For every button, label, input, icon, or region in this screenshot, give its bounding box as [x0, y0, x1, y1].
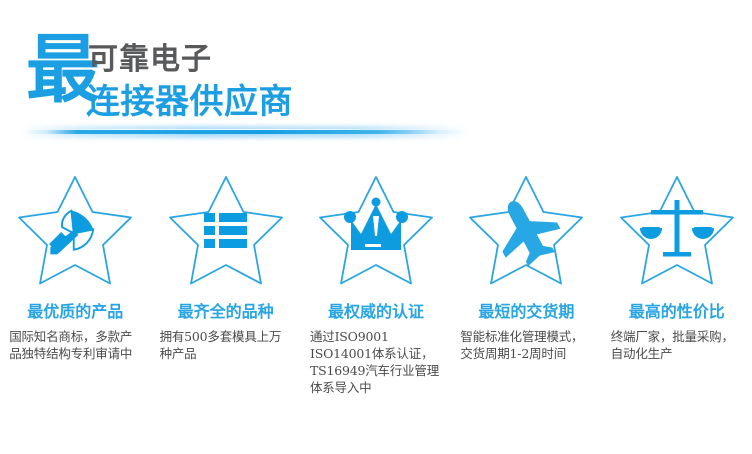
feature-item: 最优质的产品 国际知名商标，多款产品独特结构专利审请中 — [0, 168, 150, 408]
feature-description: 拥有500多套模具上万种产品 — [160, 328, 292, 362]
grid-list-icon — [204, 213, 247, 248]
header-divider — [0, 124, 752, 140]
headline-line-2: 连接器供应商 — [86, 84, 293, 120]
headline-line-1: 可靠电子 — [88, 44, 212, 76]
feature-list: 最优质的产品 国际知名商标，多款产品独特结构专利审请中 最齐全的品种 拥有500… — [0, 168, 752, 408]
divider-highlight-line — [40, 129, 450, 130]
feature-description: 通过ISO9001 ISO14001体系认证，TS16949汽车行业管理体系导入… — [310, 328, 442, 396]
feature-description: 国际知名商标，多款产品独特结构专利审请中 — [9, 328, 141, 362]
satellite-dish-icon — [49, 211, 93, 255]
feature-title: 最短的交货期 — [478, 302, 574, 322]
star-badge — [2, 168, 148, 300]
star-badge — [604, 168, 750, 300]
divider-core-line — [25, 130, 465, 134]
star-badge — [303, 168, 449, 300]
crown-icon — [344, 198, 408, 251]
feature-title: 最优质的产品 — [27, 302, 123, 322]
feature-item: 最齐全的品种 拥有500多套模具上万种产品 — [150, 168, 300, 408]
feature-item: 最权威的认证 通过ISO9001 ISO14001体系认证，TS16949汽车行… — [301, 168, 451, 408]
feature-description: 终端厂家，批量采购，自动化生产 — [611, 328, 743, 362]
star-badge — [153, 168, 299, 300]
feature-item: 最短的交货期 智能标准化管理模式，交货周期1-2周时间 — [451, 168, 601, 408]
feature-description: 智能标准化管理模式，交货周期1-2周时间 — [460, 328, 592, 362]
feature-title: 最齐全的品种 — [178, 302, 274, 322]
star-badge — [453, 168, 599, 300]
balance-scale-icon — [640, 200, 714, 257]
page-header: 最 可靠电子 连接器供应商 — [0, 0, 752, 150]
feature-title: 最高的性价比 — [629, 302, 725, 322]
feature-title: 最权威的认证 — [328, 302, 424, 322]
feature-item: 最高的性价比 终端厂家，批量采购，自动化生产 — [602, 168, 752, 408]
